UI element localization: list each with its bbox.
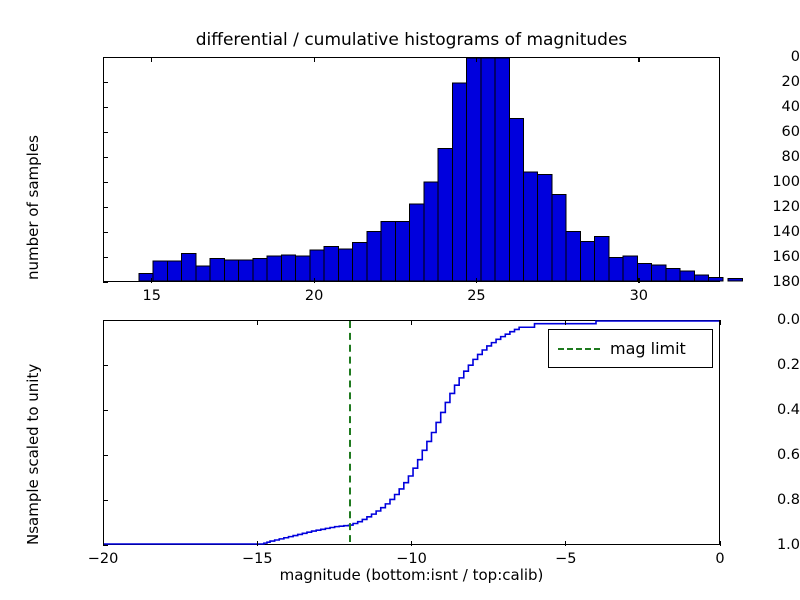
- y-tick-label: 180: [705, 274, 800, 290]
- y-tick-label: 0.8: [705, 492, 800, 508]
- x-tick-label: 0: [715, 551, 724, 567]
- x-tick-mark: [257, 541, 258, 546]
- x-tick-mark: [565, 541, 566, 546]
- y-tick-label: 0.2: [705, 357, 800, 373]
- y-tick-mark: [103, 500, 108, 501]
- y-tick-label: 0: [705, 49, 800, 65]
- legend[interactable]: mag limit: [548, 329, 713, 368]
- bottom-y-axis-label: Nsample scaled to unity: [24, 364, 42, 545]
- y-tick-mark: [103, 157, 108, 158]
- top-histogram-plot: [104, 58, 719, 281]
- legend-label: mag limit: [610, 339, 686, 358]
- x-tick-mark-top: [103, 320, 104, 325]
- y-tick-label: 120: [705, 199, 800, 215]
- x-tick-mark: [103, 541, 104, 546]
- y-tick-label: 0.4: [705, 402, 800, 418]
- x-tick-label: 30: [630, 288, 648, 304]
- y-tick-label: 40: [705, 99, 800, 115]
- x-tick-mark: [314, 278, 315, 283]
- y-tick-mark: [103, 320, 108, 321]
- y-tick-mark: [103, 365, 108, 366]
- y-tick-mark: [103, 207, 108, 208]
- y-tick-mark: [103, 82, 108, 83]
- y-tick-mark: [103, 257, 108, 258]
- x-tick-mark-top: [720, 320, 721, 325]
- x-tick-mark-top: [476, 57, 477, 62]
- x-tick-label: −5: [555, 551, 576, 567]
- x-tick-mark-top: [638, 57, 639, 62]
- y-tick-label: 100: [705, 174, 800, 190]
- legend-dashed-line-icon: [558, 348, 600, 350]
- x-tick-mark-top: [411, 320, 412, 325]
- x-tick-label: 15: [142, 288, 160, 304]
- y-tick-label: 60: [705, 124, 800, 140]
- y-tick-mark: [103, 282, 108, 283]
- x-tick-mark-top: [151, 57, 152, 62]
- x-tick-label: 25: [467, 288, 485, 304]
- x-tick-mark-top: [314, 57, 315, 62]
- x-tick-mark: [720, 541, 721, 546]
- x-tick-mark: [476, 278, 477, 283]
- y-tick-mark: [103, 107, 108, 108]
- y-tick-mark: [103, 232, 108, 233]
- x-tick-mark: [638, 278, 639, 283]
- x-tick-mark-top: [257, 320, 258, 325]
- x-tick-label: −15: [242, 551, 273, 567]
- figure: differential / cumulative histograms of …: [0, 0, 800, 600]
- figure-title: differential / cumulative histograms of …: [103, 30, 720, 50]
- y-tick-label: 140: [705, 224, 800, 240]
- x-tick-label: −20: [88, 551, 119, 567]
- x-tick-mark: [151, 278, 152, 283]
- y-tick-mark: [103, 410, 108, 411]
- y-tick-mark: [103, 57, 108, 58]
- y-tick-label: 0.6: [705, 447, 800, 463]
- top-histogram-axes: [103, 57, 720, 282]
- y-tick-mark: [103, 455, 108, 456]
- y-tick-label: 80: [705, 149, 800, 165]
- y-tick-mark: [103, 182, 108, 183]
- top-y-axis-label: number of samples: [24, 135, 42, 280]
- y-tick-mark: [103, 132, 108, 133]
- x-tick-label: 20: [305, 288, 323, 304]
- x-tick-mark-top: [565, 320, 566, 325]
- x-axis-label: magnitude (bottom:isnt / top:calib): [103, 566, 720, 584]
- y-tick-label: 160: [705, 249, 800, 265]
- x-tick-mark: [411, 541, 412, 546]
- x-tick-label: −10: [396, 551, 427, 567]
- y-tick-label: 20: [705, 74, 800, 90]
- y-tick-mark: [103, 545, 108, 546]
